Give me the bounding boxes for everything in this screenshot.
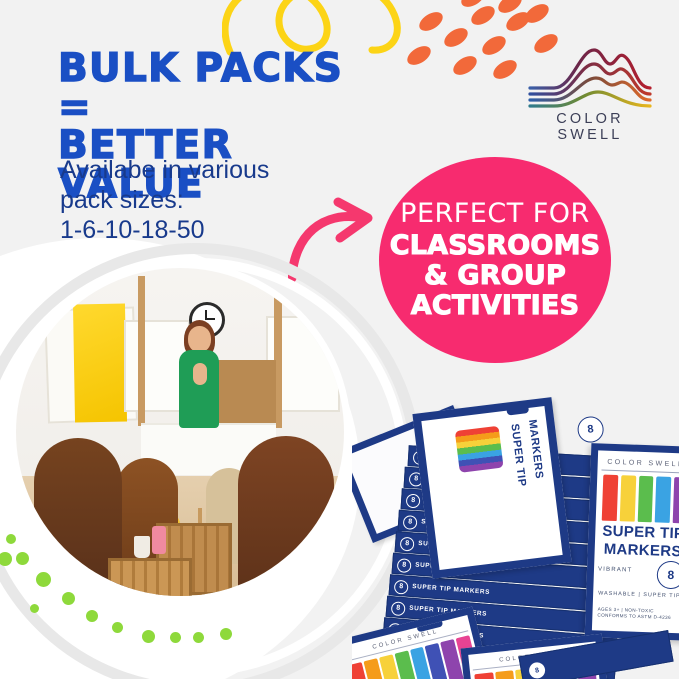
art-classroom-photo bbox=[16, 268, 344, 596]
marker-row bbox=[602, 475, 679, 524]
color-swell-logo: COLOR SWELL bbox=[524, 44, 656, 134]
logo-wave-icon bbox=[524, 44, 656, 110]
hero-title-line-2: MARKERS bbox=[526, 419, 545, 480]
package-title-line-1: SUPER TIP bbox=[595, 522, 679, 542]
status-badge: PERFECT FOR CLASSROOMS & GROUP ACTIVITIE… bbox=[379, 157, 611, 363]
package-brand-header: COLOR SWELL bbox=[601, 455, 679, 474]
count-badge-8: 8 bbox=[527, 660, 548, 679]
badge-bold-lines: CLASSROOMS & GROUP ACTIVITIES bbox=[390, 231, 601, 320]
subhead-line-1: Availabe in various bbox=[60, 155, 360, 185]
headline-line-1: BULK PACKS = bbox=[58, 46, 343, 130]
ages-text: AGES 3+ | NON-TOXIC CONFORMS TO ASTM D-4… bbox=[597, 606, 671, 620]
package-title-line-2: MARKERS bbox=[594, 540, 679, 560]
badge-line-1: PERFECT FOR bbox=[400, 200, 590, 228]
hero-marker-package: SUPER TIP MARKERS 8 bbox=[412, 397, 571, 579]
hero-title-line-1: SUPER TIP bbox=[508, 423, 528, 487]
infographic-canvas: COLOR SWELL BULK PACKS = BETTER VALUE Av… bbox=[0, 0, 679, 679]
count-badge-8: 8 bbox=[576, 415, 605, 444]
badge-line-2: CLASSROOMS bbox=[390, 231, 601, 261]
super-tip-markers-bulk-packs: 8 8 SUPER TIP MARKERS 8 SUPER TIP MARKER… bbox=[352, 395, 679, 679]
front-marker-package: COLOR SWELL SUPER TIP MARKERS VIBRANT 8 … bbox=[585, 443, 679, 641]
badge-line-4: ACTIVITIES bbox=[390, 291, 601, 321]
rainbow-swatch bbox=[455, 426, 504, 473]
count-badge-8: 8 bbox=[656, 561, 679, 590]
vibrant-text: VIBRANT bbox=[598, 566, 633, 573]
washable-text: WASHABLE | SUPER TIP bbox=[598, 590, 679, 599]
badge-line-3: & GROUP bbox=[390, 261, 601, 291]
logo-wordmark: COLOR SWELL bbox=[524, 111, 656, 143]
